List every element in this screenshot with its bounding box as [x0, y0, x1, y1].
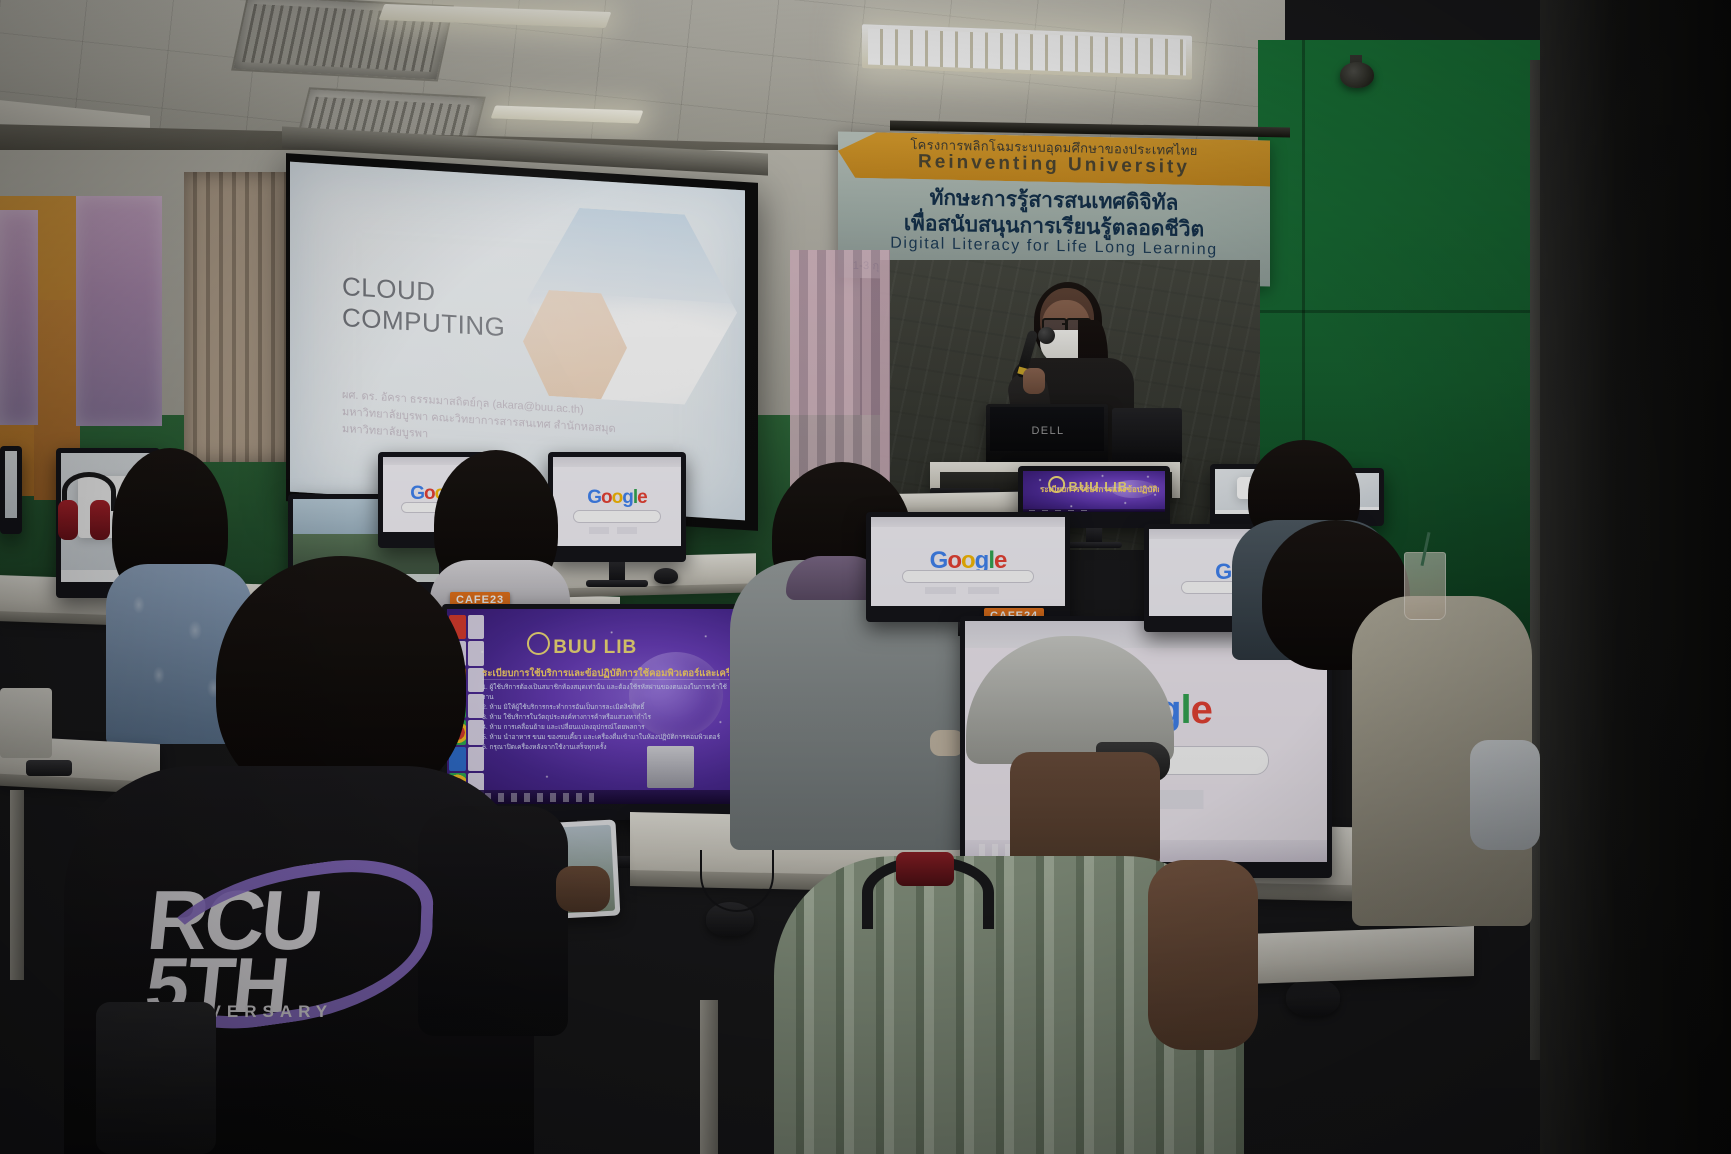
- computer-mouse[interactable]: [1286, 978, 1340, 1016]
- headset-earcup: [58, 500, 78, 540]
- rule-line: 3. ห้าม ใช้บริการในวัตถุประสงค์ทางการค้า…: [482, 713, 729, 723]
- monitor-screen[interactable]: BUU LIB ระเบียบการใช้บริการและข้อปฏิบัติ…: [447, 609, 741, 804]
- attendee-hand: [930, 730, 964, 756]
- search-input[interactable]: [902, 570, 1034, 583]
- workstation-monitor: Google: [548, 452, 686, 562]
- presenter-hand: [1023, 368, 1045, 394]
- google-logo: Google: [587, 487, 646, 509]
- google-homepage: Google: [871, 517, 1065, 606]
- rule-line: 1. ผู้ใช้บริการต้องเป็นสมาชิกห้องสมุดเท่…: [482, 683, 729, 703]
- headset-earcup: [90, 500, 110, 540]
- monitor-base: [1066, 542, 1122, 548]
- window-left: [76, 196, 162, 426]
- attendee-arm: [418, 806, 568, 1036]
- attendee-hand: [556, 866, 610, 912]
- browser-toolbar[interactable]: [553, 457, 681, 467]
- backpack: [96, 1002, 216, 1154]
- podium-second-monitor: [1112, 408, 1182, 464]
- wallpaper-computer-graphic: [647, 746, 694, 789]
- windows-desktop: [5, 451, 17, 518]
- training-room-photo: CLOUD COMPUTING ผศ. ดร. อัครา ธรรมมาสถิต…: [0, 0, 1731, 1154]
- monitor-screen[interactable]: Google: [871, 517, 1065, 606]
- browser-toolbar[interactable]: [871, 517, 1065, 527]
- google-homepage: Google: [553, 457, 681, 546]
- desktop-icon[interactable]: [468, 615, 485, 639]
- attendee-arm: [1470, 740, 1540, 850]
- desk-row-front-right: [1244, 926, 1474, 984]
- window-left: [0, 210, 38, 425]
- monitor-screen[interactable]: [5, 451, 17, 518]
- monitor-stand: [1086, 528, 1102, 542]
- buu-lib-wallpaper: BUU LIB ระเบียบการใช้บริการและข้อปฏิบัติ…: [447, 609, 741, 804]
- rule-line: 4. ห้าม การเคลื่อนย้าย และเปลี่ยนแปลงอุป…: [482, 723, 729, 733]
- wall-panel-seam: [1258, 310, 1548, 313]
- drink-cup[interactable]: [1404, 552, 1446, 620]
- microphone-head: [1038, 327, 1055, 344]
- computer-mouse[interactable]: [654, 568, 678, 584]
- wallpaper-divider: [482, 679, 729, 680]
- rule-line: 5. ห้าม นำอาหาร ขนม ของขบเคี้ยว และเครื่…: [482, 733, 729, 743]
- search-buttons[interactable]: [589, 527, 645, 534]
- desk-paper-tray: [0, 688, 52, 758]
- wallpaper-rules: 1. ผู้ใช้บริการต้องเป็นสมาชิกห้องสมุดเท่…: [482, 683, 729, 753]
- rule-line: 2. ห้าม มิให้ผู้ใช้บริการกระทำการอันเป็น…: [482, 703, 729, 713]
- wallpaper-heading: ระเบียบการใช้บริการและข้อปฏิบัติการใช้คอ…: [1040, 483, 1159, 496]
- headphones-earcup: [896, 852, 954, 886]
- buu-lib-logo: BUU LIB: [527, 632, 637, 659]
- desk-leg: [700, 1000, 718, 1154]
- workstation-monitor: Google: [866, 512, 1070, 622]
- search-buttons[interactable]: [925, 587, 1010, 594]
- desktop-icon[interactable]: [468, 641, 485, 665]
- window-blinds: [184, 172, 302, 462]
- monitor-screen[interactable]: BUU LIB ระเบียบการใช้บริการและข้อปฏิบัติ…: [1023, 471, 1165, 512]
- monitor-base: [586, 580, 648, 587]
- wallpaper-divider: [1040, 487, 1159, 488]
- buu-lib-wallpaper: BUU LIB ระเบียบการใช้บริการและข้อปฏิบัติ…: [1023, 471, 1165, 512]
- attendee-arm: [1148, 860, 1258, 1050]
- wall-dark-right: [1540, 0, 1731, 1154]
- eyeglasses-bridge: [1062, 323, 1068, 325]
- monitor-cable: [700, 850, 774, 912]
- monitor-stand: [609, 562, 625, 580]
- search-input[interactable]: [573, 510, 660, 523]
- slide-title: CLOUD COMPUTING: [342, 271, 505, 343]
- monitor-screen[interactable]: Google: [553, 457, 681, 546]
- workstation-monitor-cafe23: BUU LIB ระเบียบการใช้บริการและข้อปฏิบัติ…: [442, 604, 746, 820]
- desk-leg: [10, 790, 24, 980]
- monitor-brand-label: DELL: [1028, 425, 1068, 440]
- security-camera-icon: [1340, 62, 1374, 88]
- computer-mouse[interactable]: [26, 760, 72, 776]
- workstation-monitor: [0, 446, 22, 534]
